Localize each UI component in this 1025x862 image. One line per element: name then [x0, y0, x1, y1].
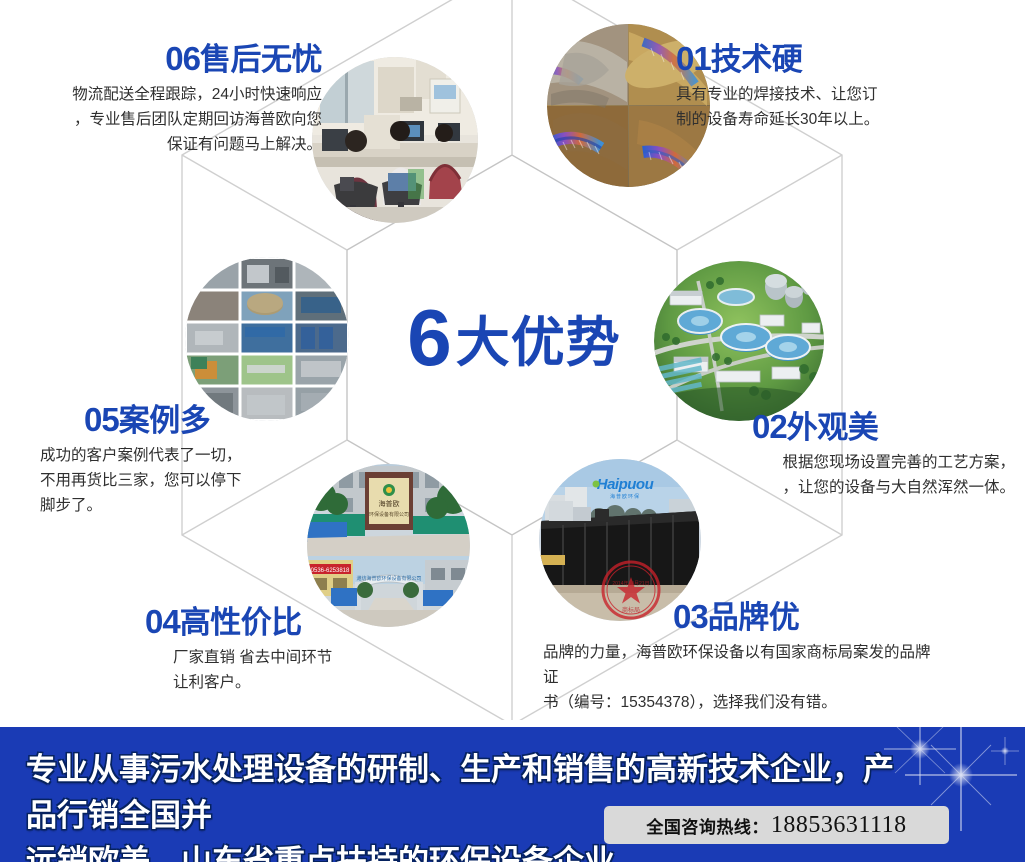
hotline-box[interactable]: 全国咨询热线： 18853631118 — [604, 806, 949, 844]
feature-06-number: 06 — [165, 40, 200, 77]
center-number: 6 — [407, 293, 450, 382]
feature-06-title: 售后无忧 — [200, 42, 322, 77]
svg-text:环保设备有限公司: 环保设备有限公司 — [369, 511, 409, 518]
feature-04-number: 04 — [145, 603, 180, 640]
svg-text:2014年10月21日: 2014年10月21日 — [612, 580, 649, 587]
feature-06[interactable]: 06售后无忧 物流配送全程跟踪，24小时快速响应 ，专业售后团队定期回访海普欧向… — [22, 42, 322, 157]
feature-04-heading: 04高性价比 — [145, 605, 445, 640]
infographic-root: Haipuou 海普欧环保 商标局 2014年10月21日 — [0, 0, 1025, 862]
feature-05-title: 案例多 — [119, 403, 211, 438]
center-title: 6大优势 — [374, 292, 654, 384]
feature-02[interactable]: 02外观美 根据您现场设置完善的工艺方案， ，让您的设备与大自然浑然一体。 — [700, 410, 1015, 500]
feature-01-number: 01 — [676, 40, 711, 77]
office-team-photo — [312, 57, 478, 223]
feature-01-title: 技术硬 — [711, 42, 803, 77]
feature-01[interactable]: 01技术硬 具有专业的焊接技术、让您订 制的设备寿命延长30年以上。 — [676, 42, 1006, 132]
feature-05-heading: 05案例多 — [40, 403, 315, 438]
black-equipment-photo: Haipuou 海普欧环保 商标局 2014年10月21日 — [539, 459, 701, 621]
feature-06-body: 物流配送全程跟踪，24小时快速响应 ，专业售后团队定期回访海普欧向您 保证有问题… — [22, 82, 322, 157]
aerial-treatment-plant-photo — [654, 261, 824, 421]
feature-05-body: 成功的客户案例代表了一切， 不用再货比三家，您可以停下 脚步了。 — [40, 443, 315, 518]
feature-02-heading: 02外观美 — [700, 410, 1015, 445]
svg-text:Haipuou: Haipuou — [597, 476, 654, 493]
center-suffix: 大优势 — [456, 313, 621, 373]
feature-04[interactable]: 04高性价比 厂家直销 省去中间环节 让利客户。 — [145, 605, 445, 695]
feature-05[interactable]: 05案例多 成功的客户案例代表了一切， 不用再货比三家，您可以停下 脚步了。 — [40, 403, 315, 518]
feature-02-title: 外观美 — [787, 410, 879, 445]
feature-02-body: 根据您现场设置完善的工艺方案， ，让您的设备与大自然浑然一体。 — [700, 450, 1015, 500]
case-collage-photo — [185, 257, 349, 421]
feature-04-title: 高性价比 — [180, 605, 302, 640]
feature-03[interactable]: 03品牌优 品牌的力量，海普欧环保设备以有国家商标局案发的品牌证 书（编号：15… — [543, 600, 943, 715]
hotline-number: 18853631118 — [771, 812, 907, 839]
feature-03-heading: 03品牌优 — [543, 600, 943, 635]
feature-05-number: 05 — [84, 401, 119, 438]
hotline-label: 全国咨询热线： — [646, 813, 769, 838]
svg-text:0536-6253818: 0536-6253818 — [311, 568, 350, 574]
feature-01-body: 具有专业的焊接技术、让您订 制的设备寿命延长30年以上。 — [676, 82, 1006, 132]
svg-text:海普欧: 海普欧 — [379, 499, 400, 508]
banner-headline: 专业从事污水处理设备的研制、生产和销售的高新技术企业，产品行销全国并 远销欧美，… — [26, 747, 906, 862]
feature-03-number: 03 — [673, 598, 708, 635]
svg-text:潍坊海普欧环保设备有限公司: 潍坊海普欧环保设备有限公司 — [356, 575, 421, 582]
factory-gate-photo: 海普欧 环保设备有限公司 0536- — [307, 464, 470, 627]
feature-06-heading: 06售后无忧 — [22, 42, 322, 77]
svg-text:海普欧环保: 海普欧环保 — [610, 493, 640, 500]
feature-03-body: 品牌的力量，海普欧环保设备以有国家商标局案发的品牌证 书（编号：15354378… — [543, 640, 943, 715]
feature-04-body: 厂家直销 省去中间环节 让利客户。 — [145, 645, 445, 695]
feature-03-title: 品牌优 — [708, 600, 800, 635]
feature-02-number: 02 — [752, 408, 787, 445]
feature-01-heading: 01技术硬 — [676, 42, 1006, 77]
